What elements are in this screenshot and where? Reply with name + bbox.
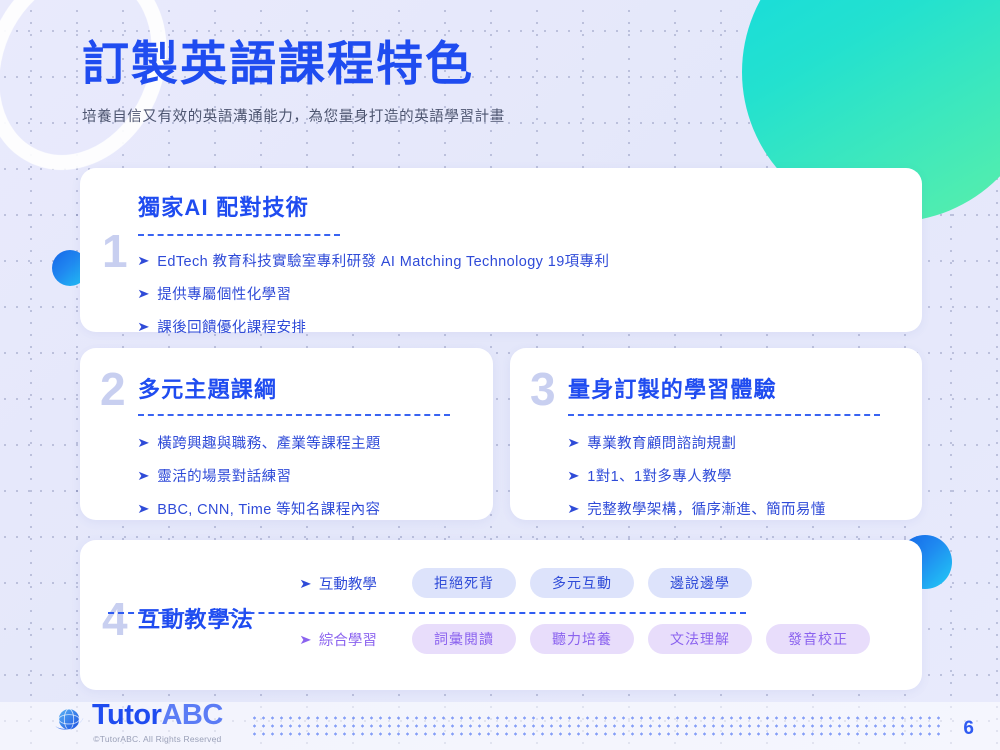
list-item: ➤ 橫跨興趣與職務、產業等課程主題 [138,432,381,453]
tag-pill[interactable]: 拒絕死背 [412,568,516,598]
bullet-text: 橫跨興趣與職務、產業等課程主題 [157,432,381,453]
globe-icon [52,704,86,738]
list-item: ➤ 課後回饋優化課程安排 [138,316,609,337]
tag-row-comprehensive-learning: ➤ 綜合學習 詞彙閱讀 聽力培養 文法理解 發音校正 [300,624,884,654]
tag-pill[interactable]: 發音校正 [766,624,870,654]
card-number-2: 2 [100,366,126,412]
list-item: ➤ BBC, CNN, Time 等知名課程內容 [138,498,381,519]
tag-pill[interactable]: 多元互動 [530,568,634,598]
brand-text-block: TutorABC ©TutorABC. All Rights Reserved [92,701,223,744]
bullet-arrow-icon: ➤ [299,577,312,590]
card-title-4: 互動教學法 [138,602,254,634]
card-number-3: 3 [530,366,556,412]
card-title-1: 獨家AI 配對技術 [138,190,309,222]
bullet-arrow-icon: ➤ [137,436,150,449]
tag-row-label-2: ➤ 綜合學習 [300,629,412,650]
page-subtitle: 培養自信又有效的英語溝通能力，為您量身打造的英語學習計畫 [82,105,505,126]
bullet-arrow-icon: ➤ [137,320,150,333]
tag-row-interactive-teaching: ➤ 互動教學 拒絕死背 多元互動 邊說邊學 [300,568,766,598]
page-number: 6 [963,718,974,740]
tag-pill[interactable]: 聽力培養 [530,624,634,654]
bullet-text: 1對1、1對多專人教學 [587,465,732,486]
bullet-arrow-icon: ➤ [137,502,150,515]
card-number-4: 4 [102,596,128,642]
tag-row-label-text: 互動教學 [319,573,377,594]
card-bullet-list-3: ➤ 專業教育顧問諮詢規劃 ➤ 1對1、1對多專人教學 ➤ 完整教學架構，循序漸進… [568,432,826,519]
bullet-text: EdTech 教育科技實驗室專利研發 AI Matching Technolog… [157,250,609,271]
card-divider-3 [568,414,880,416]
list-item: ➤ 1對1、1對多專人教學 [568,465,826,486]
page-title: 訂製英語課程特色 [82,36,505,91]
feature-card-4[interactable]: 4 互動教學法 [80,540,922,690]
card-divider-1 [138,234,340,236]
footer-dot-pattern [250,714,940,736]
bullet-text: 專業教育顧問諮詢規劃 [587,432,736,453]
bullet-arrow-icon: ➤ [567,502,580,515]
tag-row-label-1: ➤ 互動教學 [300,573,412,594]
slide-header: 訂製英語課程特色 培養自信又有效的英語溝通能力，為您量身打造的英語學習計畫 [82,36,505,126]
tag-row-label-text: 綜合學習 [319,629,377,650]
bullet-arrow-icon: ➤ [137,287,150,300]
feature-card-1[interactable]: 1 獨家AI 配對技術 ➤ EdTech 教育科技實驗室專利研發 AI Matc… [80,168,922,332]
bullet-text: 完整教學架構，循序漸進、簡而易懂 [587,498,825,519]
brand-logo: TutorABC ©TutorABC. All Rights Reserved [52,701,223,744]
bullet-text: 課後回饋優化課程安排 [157,316,306,337]
brand-name: TutorABC [92,701,223,730]
bullet-text: BBC, CNN, Time 等知名課程內容 [157,498,380,519]
card-bullet-list-1: ➤ EdTech 教育科技實驗室專利研發 AI Matching Technol… [138,250,609,337]
feature-card-2[interactable]: 2 多元主題課綱 ➤ 橫跨興趣與職務、產業等課程主題 ➤ 靈活的場景對話練習 ➤… [80,348,493,520]
list-item: ➤ 專業教育顧問諮詢規劃 [568,432,826,453]
bullet-text: 靈活的場景對話練習 [157,465,291,486]
bullet-arrow-icon: ➤ [567,469,580,482]
bullet-arrow-icon: ➤ [137,469,150,482]
list-item: ➤ EdTech 教育科技實驗室專利研發 AI Matching Technol… [138,250,609,271]
brand-name-second: ABC [161,699,222,731]
card-bullet-list-2: ➤ 橫跨興趣與職務、產業等課程主題 ➤ 靈活的場景對話練習 ➤ BBC, CNN… [138,432,381,519]
bullet-text: 提供專屬個性化學習 [157,283,291,304]
bullet-arrow-icon: ➤ [299,633,312,646]
brand-name-first: Tutor [92,699,161,731]
tag-pill[interactable]: 邊說邊學 [648,568,752,598]
list-item: ➤ 靈活的場景對話練習 [138,465,381,486]
list-item: ➤ 完整教學架構，循序漸進、簡而易懂 [568,498,826,519]
feature-card-3[interactable]: 3 量身訂製的學習體驗 ➤ 專業教育顧問諮詢規劃 ➤ 1對1、1對多專人教學 ➤… [510,348,922,520]
slide-canvas: 訂製英語課程特色 培養自信又有效的英語溝通能力，為您量身打造的英語學習計畫 1 … [0,0,1000,750]
tag-pill[interactable]: 文法理解 [648,624,752,654]
card-number-1: 1 [102,228,128,274]
card-title-2: 多元主題課綱 [138,372,277,404]
card-divider-2 [138,414,450,416]
copyright-text: ©TutorABC. All Rights Reserved [93,734,221,744]
card-title-3: 量身訂製的學習體驗 [568,372,777,404]
card-divider-4 [108,612,746,614]
bullet-arrow-icon: ➤ [567,436,580,449]
list-item: ➤ 提供專屬個性化學習 [138,283,609,304]
bullet-arrow-icon: ➤ [137,254,150,267]
tag-pill[interactable]: 詞彙閱讀 [412,624,516,654]
